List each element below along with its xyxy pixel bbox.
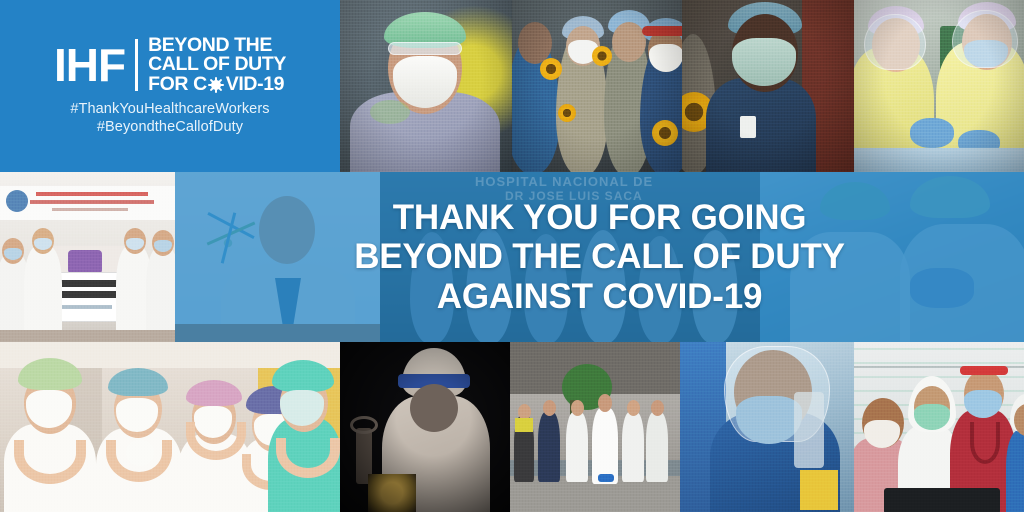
ihf-logo-lockup: IHF BEYOND THE CALL OF DUTY FOR C xyxy=(54,36,286,96)
photo-surgical-team-yellow-gowns xyxy=(854,0,1024,172)
coronavirus-icon xyxy=(208,77,225,94)
hashtag-block: #ThankYouHealthcareWorkers #BeyondtheCal… xyxy=(70,101,269,136)
photo-ppe-worker-dark xyxy=(340,342,510,512)
main-headline: THANK YOU FOR GOING BEYOND THE CALL OF D… xyxy=(175,172,1024,342)
tagline-line-3-pre: FOR C xyxy=(148,75,207,95)
headline-line-1: THANK YOU FOR GOING xyxy=(393,199,807,236)
bottom-photo-row xyxy=(0,342,1024,512)
campaign-tagline: BEYOND THE CALL OF DUTY FOR C xyxy=(148,36,286,96)
photo-staff-sunflowers xyxy=(512,0,682,172)
brand-panel: IHF BEYOND THE CALL OF DUTY FOR C xyxy=(0,0,340,172)
headline-line-2: BEYOND THE CALL OF DUTY xyxy=(354,238,845,275)
photo-nurses-at-station xyxy=(854,342,1024,512)
photo-nurses-heart-hands xyxy=(0,342,340,512)
headline-band: HOSPITAL NACIONAL DE DR JOSE LUIS SACA T… xyxy=(175,172,1024,342)
photo-doctor-n95-mask xyxy=(340,0,512,172)
logo-divider xyxy=(135,39,138,91)
hashtag-beyond: #BeyondtheCallofDuty xyxy=(70,119,269,137)
photo-masked-nurse-navy-scrubs xyxy=(682,0,854,172)
poster-canvas: IHF BEYOND THE CALL OF DUTY FOR C xyxy=(0,0,1024,512)
ihf-acronym: IHF xyxy=(54,45,125,86)
hashtag-thankyou: #ThankYouHealthcareWorkers xyxy=(70,101,269,119)
photo-staff-lineup-entrance xyxy=(510,342,680,512)
headline-line-3: AGAINST COVID-19 xyxy=(437,278,762,315)
photo-korea-hospital-ceremony xyxy=(0,172,175,342)
photo-clinician-face-shield xyxy=(680,342,854,512)
tagline-line-3-post: VID-19 xyxy=(226,75,284,95)
tagline-line-3: FOR C VID-19 xyxy=(148,75,286,95)
